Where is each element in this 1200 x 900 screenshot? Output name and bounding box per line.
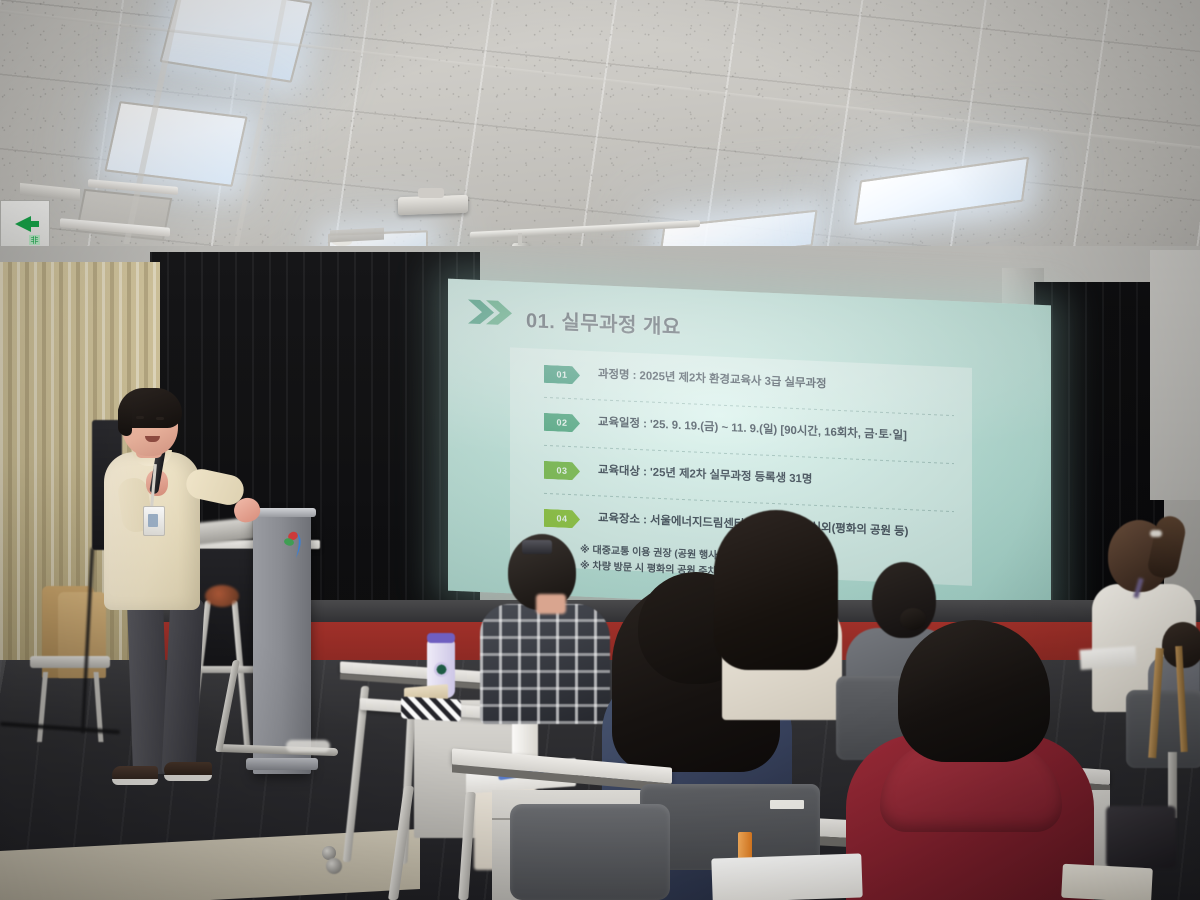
chair-seat <box>30 656 110 668</box>
paper-sheet-icon <box>711 853 862 900</box>
presenter-hair-side <box>118 404 132 436</box>
tumbler-lid <box>427 633 455 643</box>
presenter-shoe-sole <box>112 779 158 785</box>
presenter-shoe-sole <box>164 775 212 781</box>
tumbler-logo <box>434 662 449 677</box>
presenter-eye <box>156 417 164 420</box>
svg-text:非: 非 <box>31 235 39 245</box>
flower-logo-icon <box>284 528 308 562</box>
audience-hair-short <box>898 620 1050 762</box>
chair-back <box>1126 690 1200 768</box>
paper-sheet-icon <box>1061 864 1153 900</box>
podium-base <box>246 758 318 770</box>
hair-clip-icon <box>522 540 552 554</box>
audience-member <box>480 604 610 724</box>
wall-far-right <box>1150 250 1200 500</box>
cable-bundle <box>205 585 239 607</box>
lecture-hall-photo: 非 01. 실무과정 개요 01 과정명 : 2025년 제2차 환경교육사 3 <box>0 0 1200 900</box>
spotlight-arm <box>518 233 522 245</box>
presenter-eye <box>136 416 144 419</box>
chair-back <box>510 804 670 900</box>
projector-mount <box>418 188 444 198</box>
audience-neck <box>536 594 566 614</box>
chair-label-tag <box>770 800 804 809</box>
bag-under-desk <box>1106 806 1176 868</box>
id-badge-photo <box>148 514 158 527</box>
hair-tie-icon <box>1150 530 1162 537</box>
power-strip <box>286 740 330 752</box>
exit-sign: 非 <box>0 200 50 250</box>
desk-caster <box>326 858 342 874</box>
pouch-icon <box>401 696 461 721</box>
audience-hair-long <box>714 510 838 670</box>
hair-bun-icon <box>900 608 926 630</box>
paper-sheet-icon <box>1079 646 1136 670</box>
exit-arrow-left-icon: 非 <box>1 201 47 247</box>
